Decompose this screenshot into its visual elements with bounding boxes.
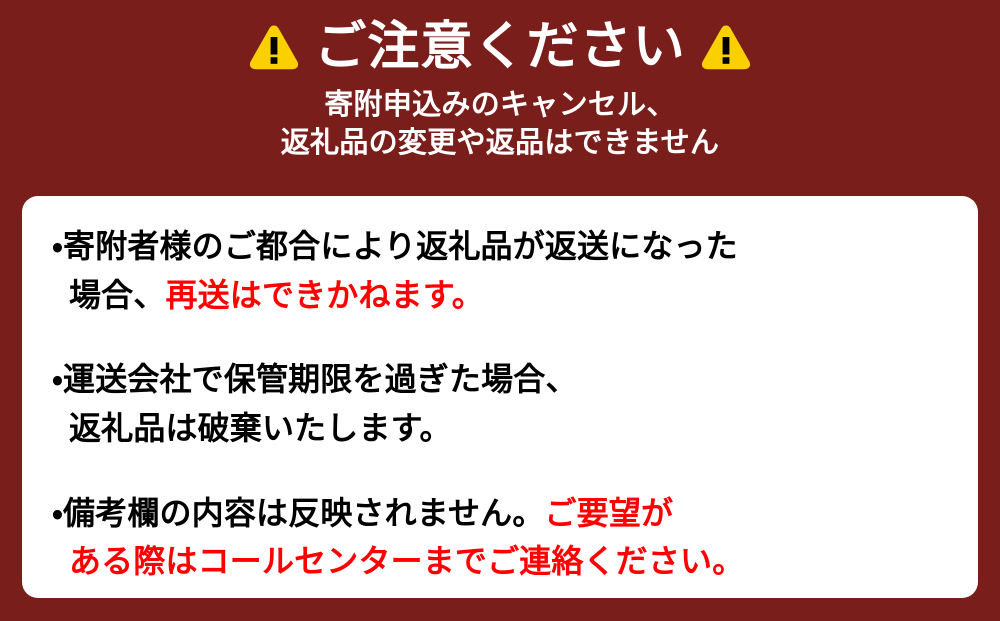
bullet-marker: ・ [52,228,63,264]
notice-line: ・寄附者様のご都合により返礼品が返送になった [52,222,948,271]
notice-text: 寄附者様のご都合により返礼品が返送になった [63,228,738,264]
notice-line: 返礼品は破棄いたします。 [52,404,948,453]
bullet-marker: ・ [52,495,63,531]
banner-subtitle: 寄附申込みのキャンセル、 返礼品の変更や返品はできません [281,86,719,163]
notice-list: ・寄附者様のご都合により返礼品が返送になった 場合、再送はできかねます。 ・運送… [52,222,948,586]
subtitle-line-1: 寄附申込みのキャンセル、 [281,86,719,124]
notice-text: 返礼品は破棄いたします。 [69,410,452,446]
page-title: ご注意ください [314,21,685,73]
notice-line: ・運送会社で保管期限を過ぎた場合、 [52,355,948,404]
notice-line: ・備考欄の内容は反映されません。ご要望が [52,489,948,538]
subtitle-line-2: 返礼品の変更や返品はできません [281,124,719,162]
list-item: ・備考欄の内容は反映されません。ご要望が ある際はコールセンターまでご連絡くださ… [52,489,948,586]
notice-text-emphasis: ある際はコールセンターまでご連絡ください。 [69,543,744,579]
title-row: ご注意ください [248,14,751,80]
notice-text: 備考欄の内容は反映されません。 [63,495,544,531]
banner-header: ご注意ください 寄附申込みのキャンセル、 返礼品の変更や返品はできません [0,0,1000,163]
list-item: ・寄附者様のご都合により返礼品が返送になった 場合、再送はできかねます。 [52,222,948,319]
warning-triangle-icon [248,21,300,73]
bullet-marker: ・ [52,361,63,397]
notice-line: 場合、再送はできかねます。 [52,271,948,320]
notice-line: ある際はコールセンターまでご連絡ください。 [52,537,948,586]
notice-text: 運送会社で保管期限を過ぎた場合、 [63,361,578,397]
list-item: ・運送会社で保管期限を過ぎた場合、 返礼品は破棄いたします。 [52,355,948,452]
notice-text-emphasis: ご要望が [545,495,674,531]
warning-triangle-icon [700,21,752,73]
notice-text: 場合、 [69,277,165,313]
notice-card: ・寄附者様のご都合により返礼品が返送になった 場合、再送はできかねます。 ・運送… [22,196,978,598]
notice-text-emphasis: 再送はできかねます。 [165,277,483,313]
warning-banner: ご注意ください 寄附申込みのキャンセル、 返礼品の変更や返品はできません ・寄附… [0,0,1000,621]
